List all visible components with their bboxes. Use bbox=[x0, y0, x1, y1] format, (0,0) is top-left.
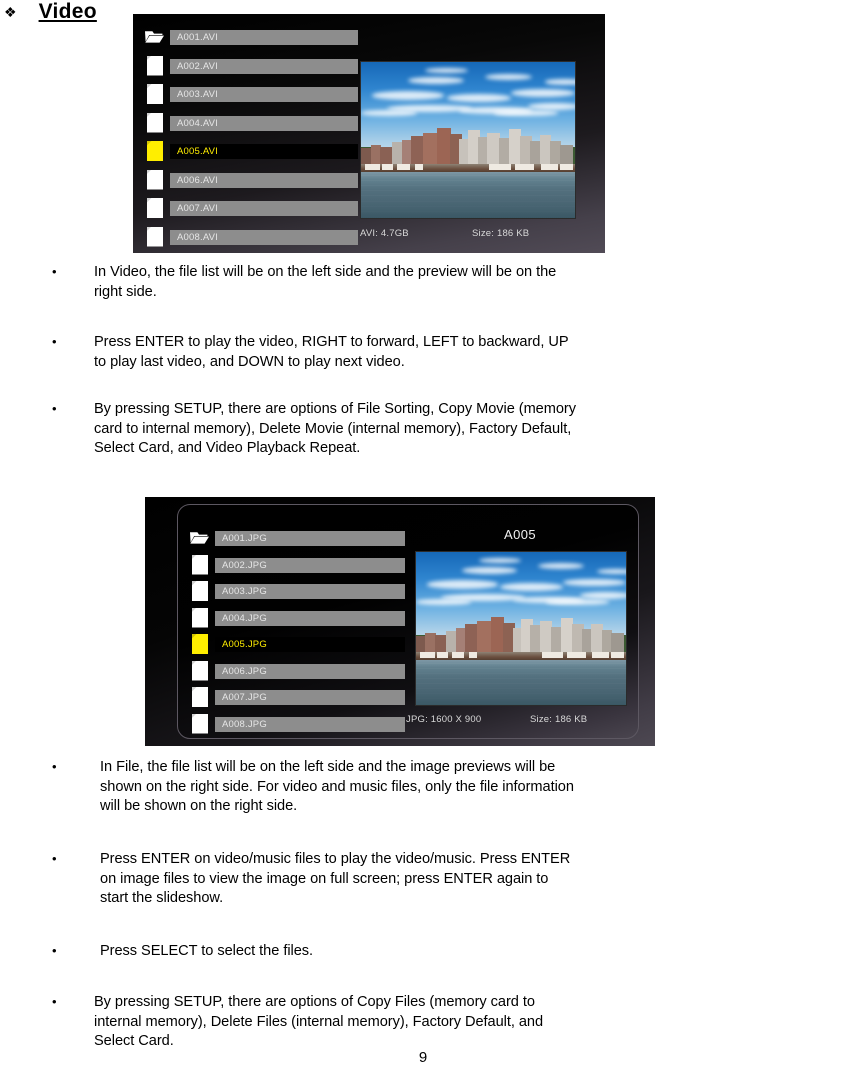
page-title: Video bbox=[39, 0, 97, 24]
water-ripple bbox=[361, 211, 575, 212]
bullet-item: • By pressing SETUP, there are options o… bbox=[52, 400, 846, 459]
boat-shape bbox=[515, 164, 534, 169]
boat-shape bbox=[452, 652, 465, 657]
bullet-text: In Video, the file list will be on the l… bbox=[94, 263, 556, 302]
section-heading: ❖ Video bbox=[0, 0, 97, 24]
file-list-item[interactable]: A005.AVI bbox=[145, 140, 360, 163]
file-list-item[interactable]: A006.JPG bbox=[190, 660, 412, 683]
file-list-item[interactable]: A003.JPG bbox=[190, 580, 412, 603]
video-mode-screenshot: A001.AVIA002.AVIA003.AVIA004.AVIA005.AVI… bbox=[133, 14, 605, 253]
water-ripple bbox=[361, 201, 575, 202]
building-shape bbox=[611, 633, 624, 653]
diamond-bullet-icon: ❖ bbox=[4, 5, 17, 19]
file-list-item[interactable]: A004.AVI bbox=[145, 112, 360, 135]
boat-shape bbox=[542, 652, 563, 657]
file-format-info: JPG: 1600 X 900 bbox=[406, 714, 530, 725]
file-icon bbox=[190, 660, 209, 683]
file-name-label: A005.AVI bbox=[170, 144, 358, 159]
file-icon bbox=[190, 580, 209, 603]
water-ripple bbox=[416, 693, 626, 694]
file-list-item[interactable]: A005.JPG bbox=[190, 633, 412, 656]
water-ripple bbox=[416, 668, 626, 669]
file-preview-title: A005 bbox=[412, 527, 628, 542]
cloud-shape bbox=[545, 79, 576, 84]
boat-shape bbox=[560, 164, 573, 169]
bullet-text: Press ENTER to play the video, RIGHT to … bbox=[94, 333, 569, 372]
water-ripple bbox=[416, 683, 626, 684]
bullet-item: • Press SELECT to select the files. bbox=[52, 942, 846, 962]
bullet-item: • Press ENTER on video/music files to pl… bbox=[52, 850, 846, 909]
file-list-item[interactable]: A003.AVI bbox=[145, 83, 360, 106]
boat-shape bbox=[611, 652, 624, 657]
cloud-shape bbox=[416, 599, 471, 604]
file-name-label: A001.JPG bbox=[215, 531, 405, 546]
skyline-region bbox=[361, 124, 575, 165]
file-icon bbox=[190, 633, 209, 656]
boat-shape bbox=[382, 164, 393, 169]
file-list-item[interactable]: A007.AVI bbox=[145, 197, 360, 220]
boat-shape bbox=[415, 164, 424, 169]
bullet-item: • In Video, the file list will be on the… bbox=[52, 263, 842, 302]
cloud-shape bbox=[361, 110, 417, 115]
water-ripple bbox=[416, 663, 626, 664]
file-name-label: A004.JPG bbox=[215, 611, 405, 626]
bullet-marker-icon: • bbox=[52, 263, 62, 280]
file-icon bbox=[145, 112, 164, 135]
file-name-label: A005.JPG bbox=[215, 637, 405, 652]
file-icon bbox=[145, 140, 164, 163]
file-name-label: A003.JPG bbox=[215, 584, 405, 599]
file-list-item[interactable]: A007.JPG bbox=[190, 686, 412, 709]
water-ripple bbox=[361, 180, 575, 181]
file-list-item[interactable]: A006.AVI bbox=[145, 169, 360, 192]
cloud-shape bbox=[546, 599, 609, 604]
building-shape bbox=[423, 133, 438, 165]
cloud-shape bbox=[479, 558, 521, 563]
bullet-marker-icon: • bbox=[52, 758, 62, 775]
cloud-shape bbox=[500, 583, 563, 591]
file-icon bbox=[145, 55, 164, 78]
water-ripple bbox=[361, 185, 575, 186]
water-ripple bbox=[416, 673, 626, 674]
file-icon bbox=[145, 226, 164, 249]
cloud-shape bbox=[563, 579, 626, 587]
file-mode-screen-bezel: A001.JPGA002.JPGA003.JPGA004.JPGA005.JPG… bbox=[177, 504, 639, 739]
cloud-shape bbox=[427, 580, 498, 588]
file-size-info: Size: 186 KB bbox=[530, 714, 587, 725]
cloud-shape bbox=[511, 89, 575, 97]
file-file-list[interactable]: A001.JPGA002.JPGA003.JPGA004.JPGA005.JPG… bbox=[190, 527, 412, 736]
file-info-bar: JPG: 1600 X 900 Size: 186 KB bbox=[406, 714, 636, 725]
cloud-shape bbox=[580, 592, 627, 599]
file-name-label: A007.JPG bbox=[215, 690, 405, 705]
water-ripple bbox=[361, 190, 575, 191]
bullet-marker-icon: • bbox=[52, 942, 62, 959]
building-shape bbox=[437, 128, 451, 165]
file-name-label: A006.JPG bbox=[215, 664, 405, 679]
video-info-bar: AVI: 4.7GB Size: 186 KB bbox=[360, 228, 576, 239]
boat-shape bbox=[397, 164, 410, 169]
file-list-item[interactable]: A008.JPG bbox=[190, 713, 412, 736]
folder-icon bbox=[145, 26, 164, 49]
bullet-text: By pressing SETUP, there are options of … bbox=[94, 400, 576, 459]
file-name-label: A006.AVI bbox=[170, 173, 358, 188]
file-list-item[interactable]: A008.AVI bbox=[145, 226, 360, 249]
water-ripple bbox=[361, 175, 575, 176]
file-name-label: A008.AVI bbox=[170, 230, 358, 245]
water-ripple bbox=[361, 216, 575, 217]
bullet-item: • By pressing SETUP, there are options o… bbox=[52, 993, 846, 1052]
water-ripple bbox=[416, 698, 626, 699]
bullet-item: • Press ENTER to play the video, RIGHT t… bbox=[52, 333, 842, 372]
file-mode-screenshot: A001.JPGA002.JPGA003.JPGA004.JPGA005.JPG… bbox=[145, 497, 655, 746]
file-icon bbox=[190, 554, 209, 577]
boat-shape bbox=[567, 652, 586, 657]
file-icon bbox=[145, 169, 164, 192]
file-list-item[interactable]: A002.AVI bbox=[145, 55, 360, 78]
file-name-label: A001.AVI bbox=[170, 30, 358, 45]
boat-shape bbox=[437, 652, 448, 657]
file-list-item[interactable]: A002.JPG bbox=[190, 554, 412, 577]
cloud-shape bbox=[447, 94, 511, 102]
boat-shape bbox=[489, 164, 510, 169]
cloud-shape bbox=[528, 103, 576, 110]
bullet-marker-icon: • bbox=[52, 850, 62, 867]
file-name-label: A007.AVI bbox=[170, 201, 358, 216]
file-icon bbox=[145, 83, 164, 106]
bullet-marker-icon: • bbox=[52, 333, 62, 350]
bullet-item: • In File, the file list will be on the … bbox=[52, 758, 846, 817]
water-ripple bbox=[361, 195, 575, 196]
boat-shape bbox=[541, 164, 558, 169]
water-ripple bbox=[416, 688, 626, 689]
boat-shape bbox=[420, 652, 435, 657]
video-format-info: AVI: 4.7GB bbox=[360, 228, 472, 239]
bullet-marker-icon: • bbox=[52, 993, 62, 1010]
file-name-label: A003.AVI bbox=[170, 87, 358, 102]
bullet-marker-icon: • bbox=[52, 400, 62, 417]
video-file-list[interactable]: A001.AVIA002.AVIA003.AVIA004.AVIA005.AVI… bbox=[145, 26, 360, 249]
file-icon bbox=[190, 713, 209, 736]
skyline-region bbox=[416, 613, 626, 653]
file-icon bbox=[145, 197, 164, 220]
file-icon bbox=[190, 686, 209, 709]
bullet-text: In File, the file list will be on the le… bbox=[100, 758, 574, 817]
cloud-shape bbox=[462, 567, 517, 574]
building-shape bbox=[491, 617, 505, 653]
bullet-text: Press SELECT to select the files. bbox=[100, 942, 313, 962]
cloud-shape bbox=[494, 110, 558, 115]
water-region bbox=[416, 660, 626, 705]
cloud-shape bbox=[485, 74, 532, 80]
bullet-text: By pressing SETUP, there are options of … bbox=[94, 993, 543, 1052]
page-number: 9 bbox=[0, 1049, 846, 1066]
file-name-label: A004.AVI bbox=[170, 116, 358, 131]
water-ripple bbox=[361, 206, 575, 207]
water-ripple bbox=[416, 703, 626, 704]
boat-shape bbox=[469, 652, 477, 657]
file-icon bbox=[190, 607, 209, 630]
file-list-item[interactable]: A004.JPG bbox=[190, 607, 412, 630]
file-name-label: A008.JPG bbox=[215, 717, 405, 732]
boat-shape bbox=[592, 652, 609, 657]
video-preview-image bbox=[360, 61, 576, 219]
bullet-text: Press ENTER on video/music files to play… bbox=[100, 850, 570, 909]
water-ripple bbox=[416, 678, 626, 679]
folder-icon bbox=[190, 527, 209, 550]
file-list-item[interactable]: A001.JPG bbox=[190, 527, 412, 550]
file-name-label: A002.JPG bbox=[215, 558, 405, 573]
water-region bbox=[361, 172, 575, 218]
boat-shape bbox=[365, 164, 380, 169]
file-preview-image bbox=[415, 551, 627, 706]
cloud-shape bbox=[372, 91, 445, 100]
file-name-label: A002.AVI bbox=[170, 59, 358, 74]
video-size-info: Size: 186 KB bbox=[472, 228, 529, 239]
building-shape bbox=[560, 145, 573, 165]
building-shape bbox=[477, 621, 492, 653]
file-list-item[interactable]: A001.AVI bbox=[145, 26, 360, 49]
